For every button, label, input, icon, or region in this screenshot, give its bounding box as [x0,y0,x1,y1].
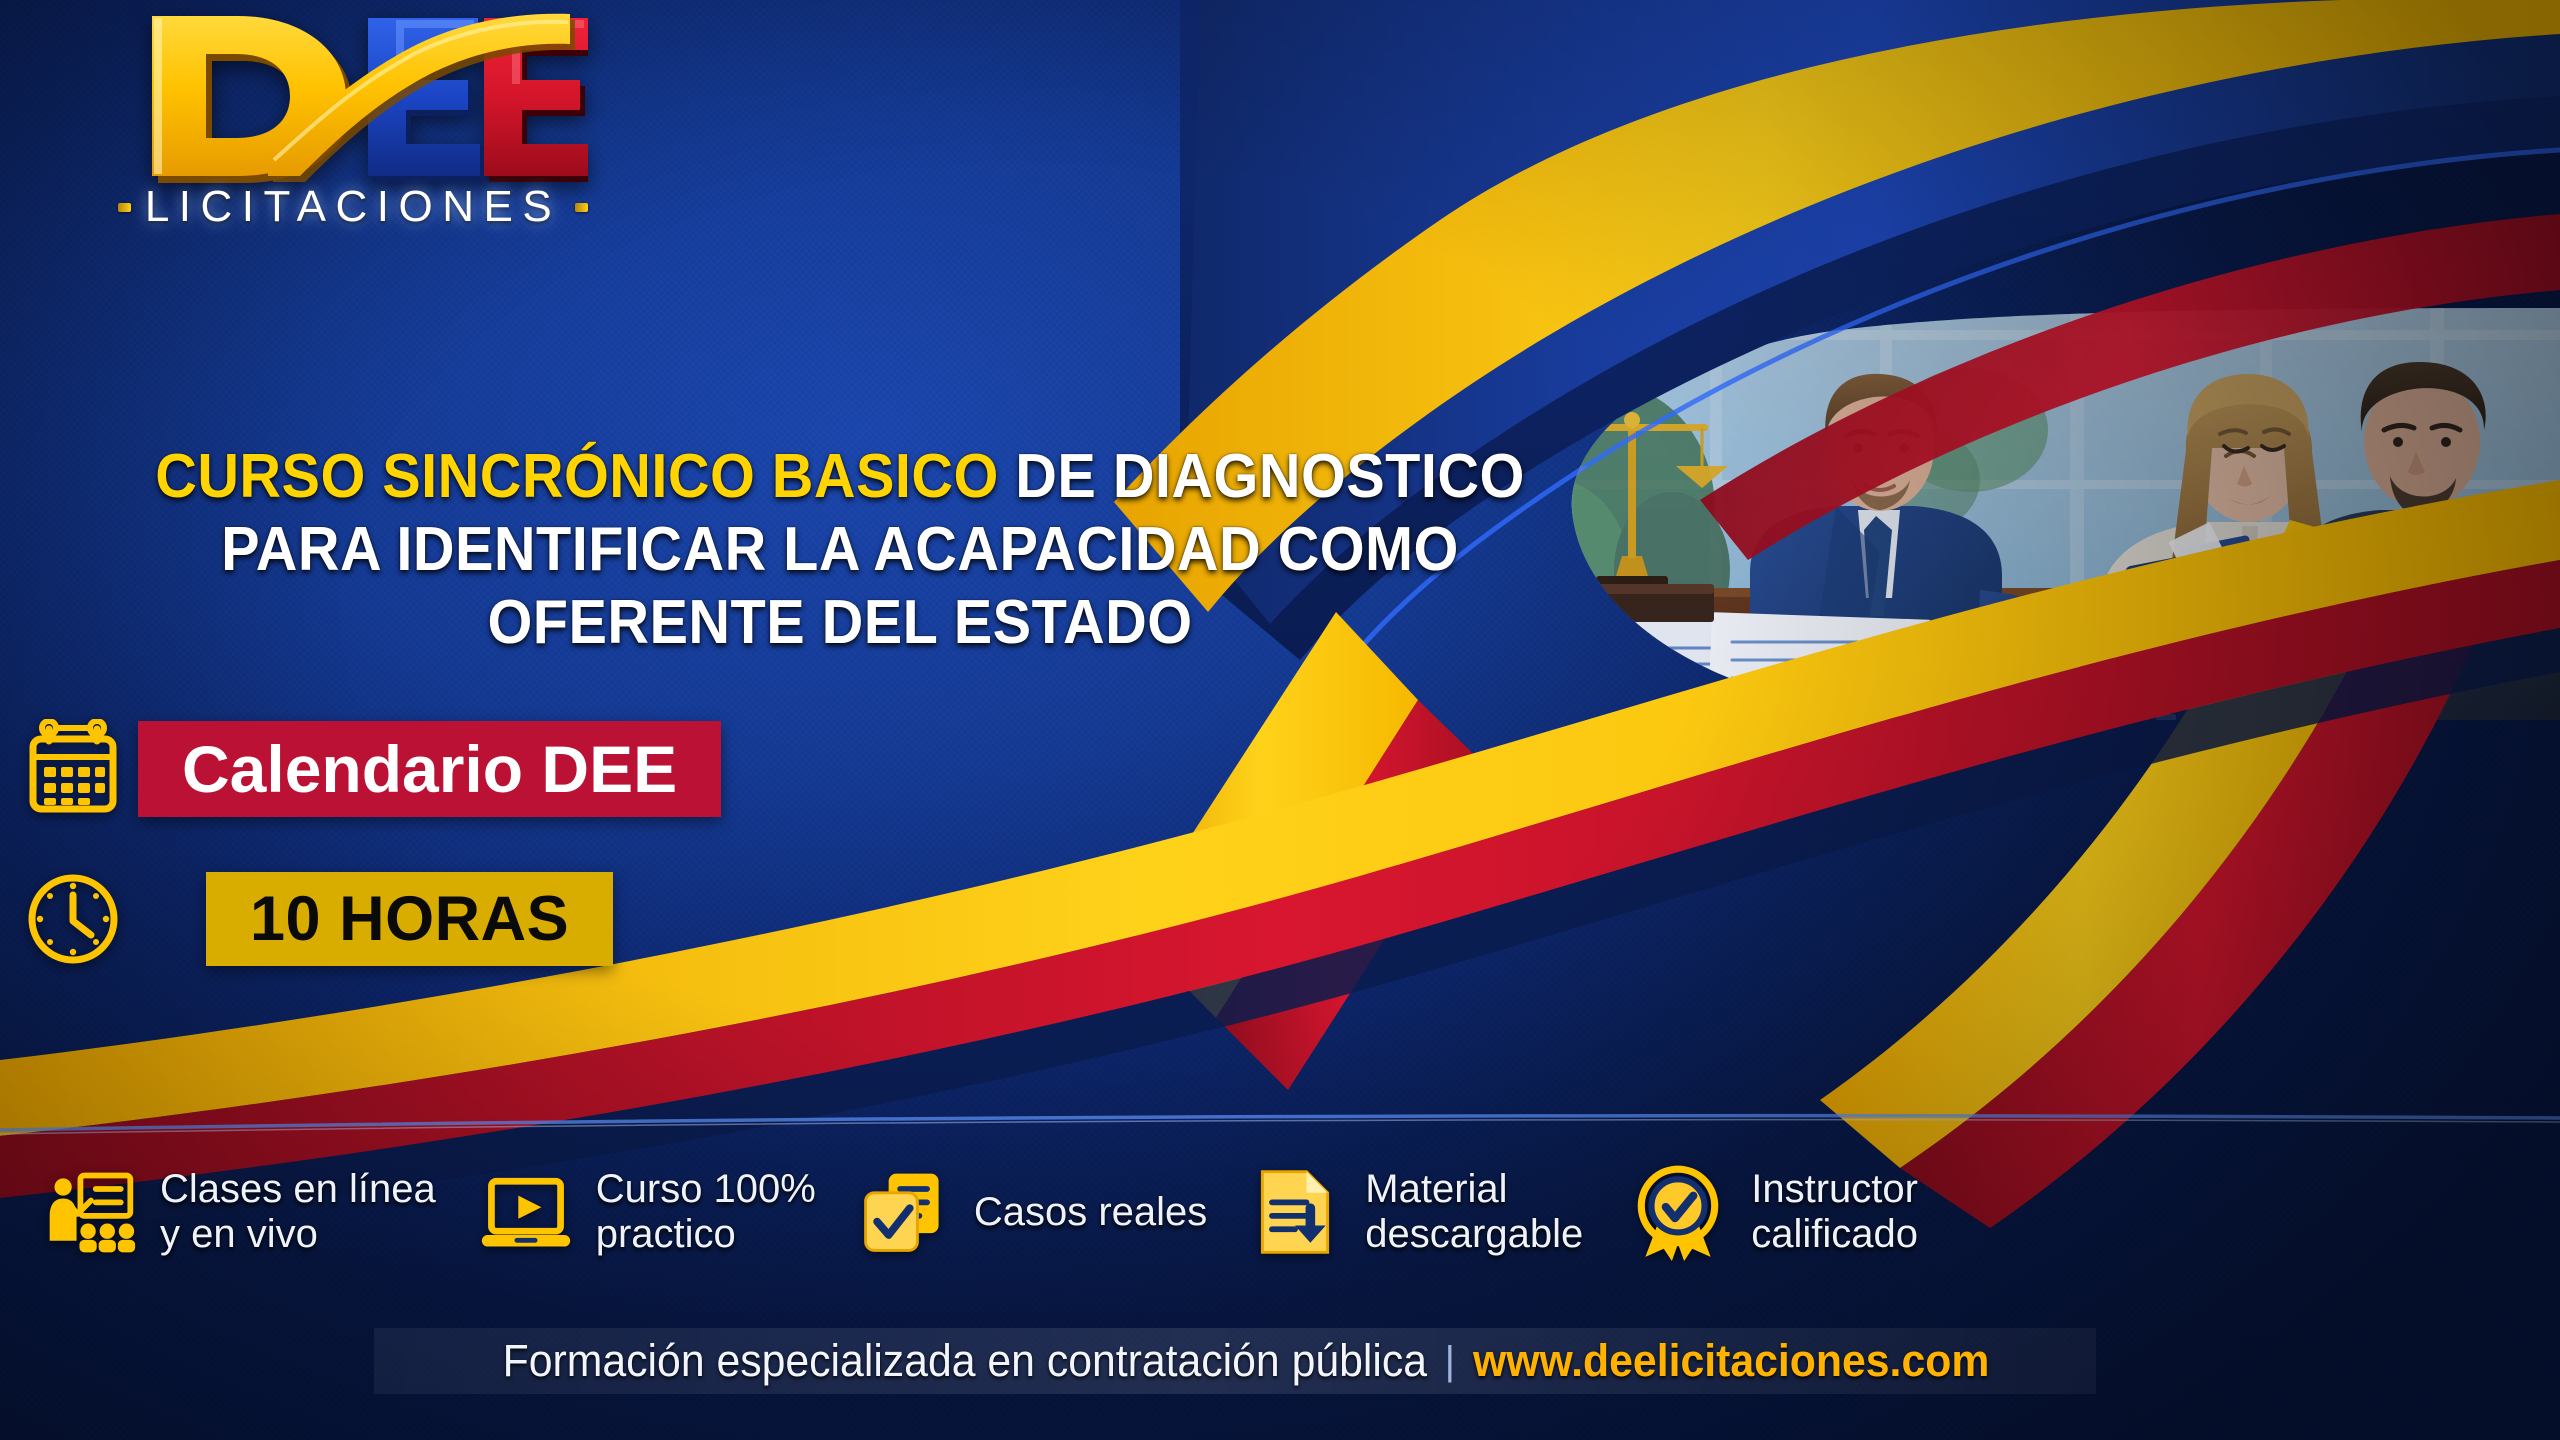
feature-item-casos[interactable]: Casos reales [856,1164,1207,1260]
footer-tagline: Formación especializada en contratación … [502,1335,1426,1387]
badge-hours-pill[interactable]: 10 HORAS [206,872,613,966]
headline-line-2: PARA IDENTIFICAR LA ACAPACIDAD COMO [133,513,1547,586]
headline-line-3: OFERENTE DEL ESTADO [133,586,1547,659]
badge-calendar: Calendario DEE [18,714,721,824]
badge-calendar-pill[interactable]: Calendario DEE [138,721,721,817]
headline-line-1-rest: DE DIAGNOSTICO [999,442,1525,511]
logo-wordmark-text: LICITACIONES [145,182,561,232]
course-headline: CURSO SINCRÓNICO BASICO DE DIAGNOSTICO P… [133,440,1547,659]
headline-highlight: CURSO SINCRÓNICO BASICO [155,442,999,511]
feature-item-material[interactable]: Material descargable [1247,1164,1583,1260]
logo-mark-dee [118,4,588,194]
document-download-icon [1247,1164,1343,1260]
feature-label-material: Material descargable [1365,1167,1583,1257]
logo-wordmark-row: LICITACIONES [118,182,588,232]
logo-rule-left [118,203,131,212]
logo-rule-right [575,203,588,212]
presenter-board-icon [42,1164,138,1260]
feature-item-practico[interactable]: Curso 100% practico [478,1164,816,1260]
footer-separator: | [1445,1339,1455,1384]
feature-item-instructor[interactable]: Instructor calificado [1627,1161,1918,1263]
feature-strip: Clases en línea y en vivo Curso 100% pra… [0,1128,2560,1296]
feature-label-practico: Curso 100% practico [596,1167,816,1257]
badge-calendar-label: Calendario DEE [182,736,677,802]
laptop-play-icon [478,1164,574,1260]
badge-hours: 10 HORAS [18,864,613,974]
feature-item-clases[interactable]: Clases en línea y en vivo [42,1164,436,1260]
footer-bar: Formación especializada en contratación … [374,1328,2096,1394]
calendar-icon [18,714,128,824]
headline-line-1: CURSO SINCRÓNICO BASICO DE DIAGNOSTICO [133,440,1547,513]
documents-check-icon [856,1164,952,1260]
brand-logo[interactable]: LICITACIONES [118,4,588,236]
feature-label-casos: Casos reales [974,1190,1207,1235]
footer-website-url[interactable]: www.deelicitaciones.com [1473,1335,1989,1387]
badge-hours-label: 10 HORAS [250,888,569,951]
promotional-banner: LICITACIONES CURSO SINCRÓNICO BASICO DE … [0,0,2560,1440]
feature-label-instructor: Instructor calificado [1751,1167,1918,1257]
award-check-icon [1627,1161,1729,1263]
feature-label-clases: Clases en línea y en vivo [160,1167,436,1257]
clock-icon [18,864,128,974]
